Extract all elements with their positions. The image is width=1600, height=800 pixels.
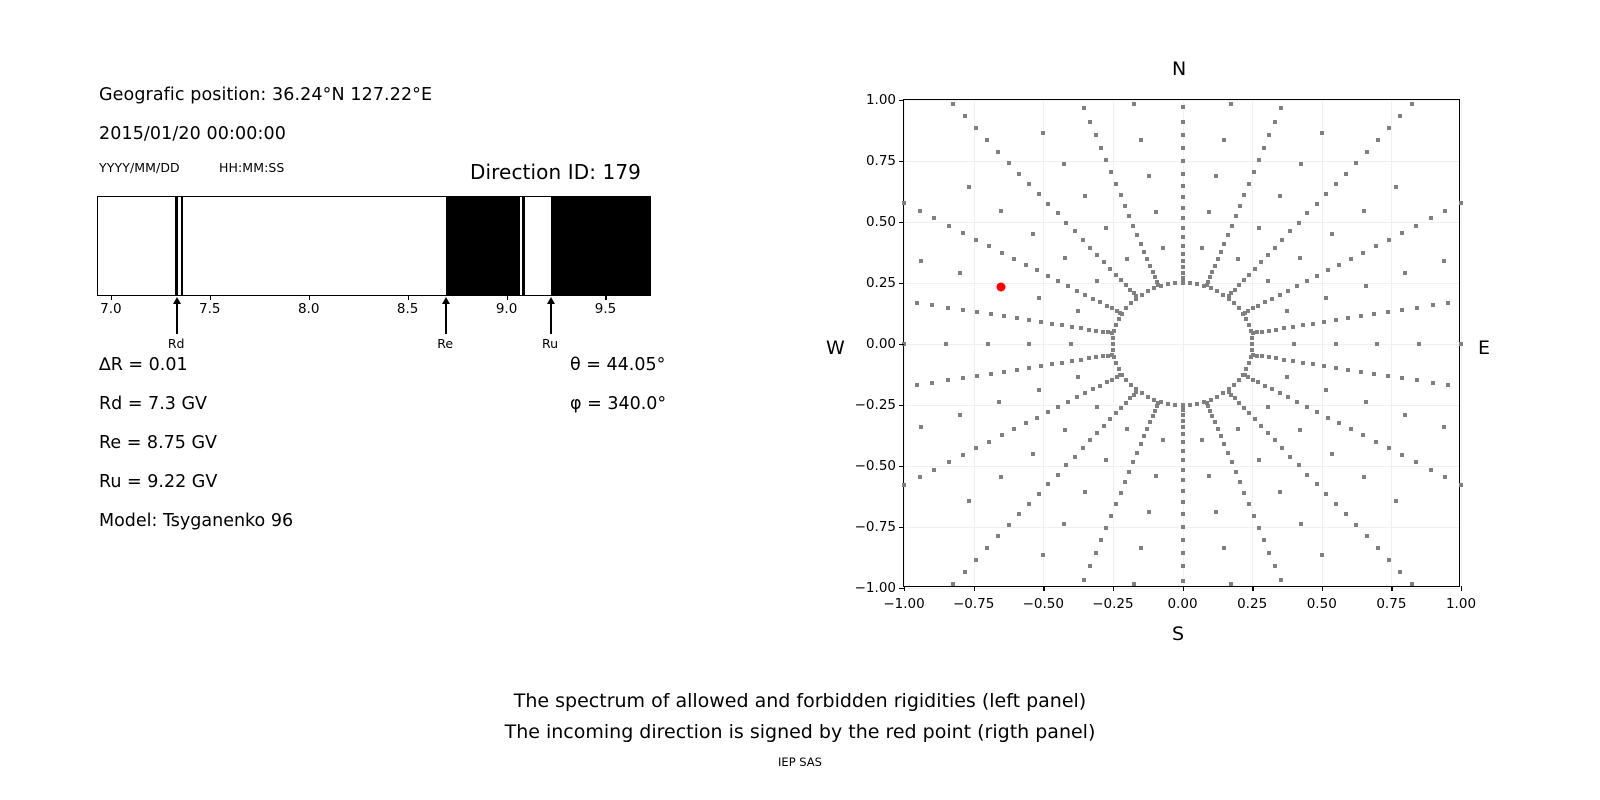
direction-point [1118,373,1122,377]
direction-point [1181,105,1185,109]
direction-point [1147,510,1151,514]
direction-point [1429,216,1433,220]
direction-point [1431,381,1435,385]
gridline-horizontal [904,588,1459,589]
direction-point [1181,271,1185,275]
direction-point [1221,391,1225,395]
direction-point [1131,224,1135,228]
direction-point [1181,564,1185,568]
direction-point [1181,408,1185,412]
direction-point [1259,260,1263,264]
direction-point [1083,490,1087,494]
direction-point [1257,458,1261,462]
y-axis-tick-label: 0.25 [848,275,896,291]
direction-point [1155,280,1159,284]
direction-point [1088,120,1092,124]
direction-point [1132,582,1136,586]
direction-point [1124,401,1128,405]
direction-point [1250,348,1254,352]
direction-point [1337,263,1341,267]
direction-point [1315,482,1319,486]
direction-point [1110,378,1114,382]
direction-point [974,126,978,130]
y-axis-tick [899,466,904,467]
direction-point [1417,342,1421,346]
direction-point [1361,251,1365,255]
direction-point [1161,246,1165,250]
direction-point [1139,546,1143,550]
y-axis-tick [899,527,904,528]
y-axis-tick-label: −1.00 [848,580,896,596]
direction-point [1188,403,1192,407]
direction-point [996,534,1000,538]
direction-point [1140,391,1144,395]
direction-point [1111,336,1115,340]
direction-point [1012,257,1016,261]
direction-point [1229,582,1233,586]
direction-point [1410,102,1414,106]
direction-point [1253,417,1257,421]
direction-point [1088,564,1092,568]
direction-point [1181,159,1185,163]
direction-point [1094,551,1098,555]
direction-point [1015,368,1019,372]
direction-point [1288,229,1292,233]
direction-point [1266,431,1270,435]
direction-point [1337,421,1341,425]
direction-point [1344,172,1348,176]
direction-point [989,312,993,316]
direction-point [1215,395,1219,399]
direction-point [1128,288,1132,292]
direction-point [1311,362,1315,366]
direction-point [1291,325,1295,329]
direction-point [1250,342,1254,346]
direction-point [1062,522,1066,526]
compass-north-label: N [1172,58,1186,80]
direction-point [1213,264,1217,268]
direction-point [1372,312,1376,316]
x-axis-tick [1043,586,1044,591]
direction-point [1145,427,1149,431]
direction-point [1181,413,1185,417]
direction-point [1253,267,1257,271]
direction-point [1260,330,1264,334]
direction-point [1415,378,1419,382]
direction-point [1209,286,1213,290]
direction-point [986,342,990,346]
direction-point [1295,284,1299,288]
y-axis-tick-label: 1.00 [848,92,896,108]
direction-point [1110,353,1114,357]
direction-point [1083,293,1087,297]
selected-direction-point [997,282,1006,291]
direction-point [915,301,919,305]
y-axis-tick [899,283,904,284]
direction-point [1247,502,1251,506]
direction-point [1247,323,1251,327]
direction-point [1135,451,1139,455]
direction-point [1181,279,1185,283]
direction-point [1263,300,1267,304]
direction-point [1232,301,1236,305]
y-axis-tick [899,222,904,223]
direction-point [1000,433,1004,437]
direction-point [1104,458,1108,462]
direction-point [1088,438,1092,442]
direction-point [1135,233,1139,237]
direction-point [1031,232,1035,236]
direction-point [1214,510,1218,514]
direction-point [1128,396,1132,400]
direction-point [1181,425,1185,429]
direction-point [967,499,971,503]
direction-point [1375,342,1379,346]
direction-point [1114,361,1118,365]
direction-point [1242,491,1246,495]
direction-point [1181,500,1185,504]
direction-point [1443,209,1447,213]
direction-point [1088,246,1092,250]
direction-point [1099,146,1103,150]
direction-point [1278,391,1282,395]
direction-point [1181,525,1185,529]
direction-point [1041,553,1045,557]
direction-point [1161,438,1165,442]
direction-point [1027,318,1031,322]
direction-point [1064,463,1068,467]
direction-point [1117,317,1121,321]
direction-point [1232,383,1236,387]
direction-point [1282,326,1286,330]
direction-point [1070,359,1074,363]
direction-point [1124,283,1128,287]
direction-point [974,446,978,450]
y-axis-tick [899,344,904,345]
direction-point [1230,460,1234,464]
direction-point [1256,304,1260,308]
direction-point [930,381,934,385]
direction-point [946,306,950,310]
direction-point [1124,306,1128,310]
direction-point [1234,470,1238,474]
direction-point [1273,246,1277,250]
direction-point [1087,356,1091,360]
direction-point [1320,553,1324,557]
direction-point [1387,446,1391,450]
direction-point [1324,296,1328,300]
direction-point [1106,330,1110,334]
direction-point [989,372,993,376]
direction-point [1251,306,1255,310]
direction-point [1354,161,1358,165]
direction-point [1330,232,1334,236]
direction-point [1142,250,1146,254]
direction-point [1111,342,1115,346]
direction-point [1221,293,1225,297]
direction-point [1278,490,1282,494]
x-axis-tick-label: −0.50 [1023,596,1064,612]
direction-point [1334,182,1338,186]
direction-point [1108,417,1112,421]
direction-point [1459,201,1463,205]
direction-point [1334,366,1338,370]
direction-point [1285,309,1289,313]
direction-point [1046,482,1050,486]
direction-point [932,216,936,220]
direction-point [1334,502,1338,506]
direction-point [1298,428,1302,432]
direction-point [1154,474,1158,478]
direction-point [985,546,989,550]
direction-point [1104,526,1108,530]
direction-point [1242,278,1246,282]
direction-point [1387,238,1391,242]
direction-point [1181,432,1185,436]
direction-point [1119,406,1123,410]
direction-point [1115,375,1119,379]
direction-point [1414,460,1418,464]
direction-point [1266,405,1270,409]
direction-point [1056,405,1060,409]
direction-point [1315,410,1319,414]
direction-point [1037,388,1041,392]
direction-point [1208,275,1212,279]
direction-point [1066,400,1070,404]
direction-point [1222,442,1226,446]
direction-point [1091,387,1095,391]
direction-point [1270,297,1274,301]
direction-point [1280,238,1284,242]
direction-point [1181,120,1185,124]
direction-point [1267,551,1271,555]
direction-point [1110,331,1114,335]
direction-point [1374,440,1378,444]
direction-point [1148,264,1152,268]
y-axis-tick-label: 0.00 [848,336,896,352]
direction-point [1222,546,1226,550]
direction-point [1237,306,1241,310]
direction-point [1095,253,1099,257]
direction-point [1127,470,1131,474]
direction-point [1301,323,1305,327]
direction-point [1359,370,1363,374]
direction-point [1039,320,1043,324]
direction-point [1210,414,1214,418]
direction-point [958,271,962,275]
direction-point [1234,214,1238,218]
direction-point [1114,182,1118,186]
direction-point [1288,455,1292,459]
direction-point [1062,162,1066,166]
direction-point [1110,306,1114,310]
direction-point [999,209,1003,213]
direction-point [1400,376,1404,380]
direction-point [918,475,922,479]
direction-point [932,468,936,472]
direction-point [1226,233,1230,237]
direction-point [1252,514,1256,518]
direction-point [1311,322,1315,326]
direction-point [1247,182,1251,186]
direction-point [1015,316,1019,320]
compass-east-label: E [1478,337,1490,359]
direction-point [1291,359,1295,363]
direction-point [1279,106,1283,110]
direction-point [1324,192,1328,196]
direction-point [1305,211,1309,215]
direction-point [1286,289,1290,293]
direction-point [902,483,906,487]
y-axis-tick [899,161,904,162]
direction-point [1181,458,1185,462]
direction-point [1153,275,1157,279]
direction-point [1322,320,1326,324]
direction-point [1181,244,1185,248]
direction-point [1075,289,1079,293]
direction-point [1443,475,1447,479]
direction-point [975,374,979,378]
direction-point [1238,204,1242,208]
y-axis-tick-label: 0.75 [848,153,896,169]
direction-point [1181,468,1185,472]
x-axis-tick [1252,586,1253,591]
direction-point [1255,330,1259,334]
y-axis-tick-label: −0.75 [848,519,896,535]
x-axis-tick [1391,586,1392,591]
x-axis-tick-label: 0.50 [1307,596,1337,612]
direction-point [1035,416,1039,420]
direction-point [1064,221,1068,225]
direction-point [1095,405,1099,409]
direction-point [1027,182,1031,186]
direction-point [1215,289,1219,293]
direction-map-panel: −1.00−0.75−0.50−0.250.000.250.500.751.00… [0,0,1600,660]
direction-point [1151,270,1155,274]
direction-point [963,570,967,574]
direction-point [1181,172,1185,176]
direction-point [1119,193,1123,197]
direction-point [1259,424,1263,428]
direction-point [1063,256,1067,260]
direction-point [1282,358,1286,362]
direction-point [1111,348,1115,352]
direction-point [1098,300,1102,304]
direction-point [1364,400,1368,404]
direction-point [919,259,923,263]
direction-point [1301,361,1305,365]
direction-point [1386,310,1390,314]
direction-point [1000,251,1004,255]
direction-point [1246,375,1250,379]
direction-point [1260,354,1264,358]
direction-point [944,342,948,346]
direction-point [1037,192,1041,196]
direction-point [1195,402,1199,406]
direction-point [1410,582,1414,586]
direction-point [1209,398,1213,402]
direction-point [1181,512,1185,516]
direction-point [1017,512,1021,516]
direction-point [1216,257,1220,261]
direction-point [1087,328,1091,332]
direction-point [951,102,955,106]
direction-point [1262,538,1266,542]
y-axis-tick [899,100,904,101]
direction-point [1256,380,1260,384]
direction-point [1081,446,1085,450]
direction-point [1181,489,1185,493]
direction-point [1398,570,1402,574]
direction-point [1238,480,1242,484]
direction-point [1181,226,1185,230]
direction-point [1007,523,1011,527]
direction-point [1210,270,1214,274]
direction-point [1398,114,1402,118]
direction-point [1280,446,1284,450]
direction-point [1387,558,1391,562]
direction-point [1104,158,1108,162]
direction-point [1007,161,1011,165]
direction-point [1075,395,1079,399]
direction-point [1365,534,1369,538]
direction-point [1206,404,1210,408]
direction-point [996,150,1000,154]
direction-point [1322,364,1326,368]
direction-point [1374,244,1378,248]
direction-point [1279,578,1283,582]
direction-point [1278,194,1282,198]
direction-point [1305,405,1309,409]
direction-point [1273,120,1277,124]
direction-point [1094,133,1098,137]
direction-point [1146,395,1150,399]
x-axis-tick-label: 0.75 [1376,596,1406,612]
direction-point [1098,384,1102,388]
direction-point [1151,414,1155,418]
direction-point [1123,480,1127,484]
direction-point [1216,427,1220,431]
direction-point [1129,383,1133,387]
direction-point [1127,214,1131,218]
direction-point [1219,250,1223,254]
direction-point [1257,158,1261,162]
direction-point [1147,174,1151,178]
direction-point [1037,296,1041,300]
direction-point [1142,434,1146,438]
direction-point [1181,252,1185,256]
direction-point [1237,378,1241,382]
direction-point [1082,106,1086,110]
direction-point [1229,291,1233,295]
direction-point [1105,380,1109,384]
direction-point [1442,259,1446,263]
direction-point [1305,473,1309,477]
direction-point [1063,428,1067,432]
direction-point [1012,427,1016,431]
direction-point [1046,410,1050,414]
direction-plot-frame: −1.00−0.75−0.50−0.250.000.250.500.751.00… [903,99,1460,587]
direction-point [1109,514,1113,518]
direction-point [1114,273,1118,277]
direction-point [1208,409,1212,413]
direction-point [1262,146,1266,150]
direction-point [1129,301,1133,305]
direction-point [997,400,1001,404]
direction-point [1181,265,1185,269]
direction-point [1027,342,1031,346]
direction-point [1056,211,1060,215]
